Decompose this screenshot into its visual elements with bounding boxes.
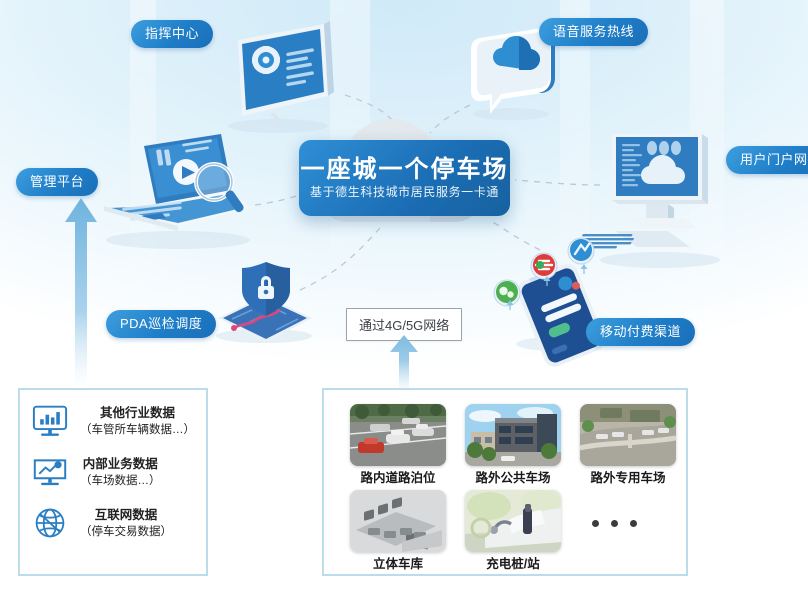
pill-pda-dispatch[interactable]: PDA巡检调度: [106, 310, 216, 338]
pill-voice-hotline[interactable]: 语音服务热线: [539, 18, 648, 46]
dot: [592, 520, 599, 527]
pill-user-portal[interactable]: 用户门户网站: [726, 146, 808, 174]
data-source-sub: （车管所车辆数据…）: [80, 422, 195, 439]
parking-type-label: 立体车库: [350, 558, 446, 571]
data-source-sub: （车场数据…）: [80, 473, 161, 490]
parking-type-item[interactable]: 立体车库: [350, 490, 446, 571]
parking-type-label: 路外公共车场: [465, 472, 561, 485]
dot: [611, 520, 618, 527]
shield-lock-map-icon: [206, 256, 326, 352]
public-parking-building-photo: [465, 404, 561, 466]
page-subtitle: 基于德生科技城市居民服务一卡通: [310, 186, 499, 198]
dedicated-parking-lot-photo: [580, 404, 676, 466]
pill-mobile-payment[interactable]: 移动付费渠道: [586, 318, 695, 346]
data-source-title: 内部业务数据: [83, 455, 158, 473]
data-source-item[interactable]: 互联网数据 （停车交易数据）: [30, 506, 196, 541]
parking-type-label: 路外专用车场: [580, 472, 676, 485]
data-sources-panel: 其他行业数据 （车管所车辆数据…） 内部业务数据 （车场数据…）: [18, 388, 208, 576]
data-source-item[interactable]: 其他行业数据 （车管所车辆数据…）: [30, 404, 196, 439]
parking-type-label: 充电桩/站: [465, 558, 561, 571]
line-chart-monitor-icon: [30, 455, 70, 489]
parking-type-label: 路内道路泊位: [350, 472, 446, 485]
chart-monitor-icon: [30, 404, 70, 438]
parking-type-item[interactable]: 路外专用车场: [580, 404, 676, 485]
diagram-canvas: 一座城一个停车场 基于德生科技城市居民服务一卡通: [0, 0, 808, 590]
data-source-item[interactable]: 内部业务数据 （车场数据…）: [30, 455, 196, 490]
street-parking-photo: [350, 404, 446, 466]
globe-network-icon: [30, 506, 70, 540]
laptop-magnifier-icon: [86, 128, 266, 254]
data-source-title: 其他行业数据: [100, 404, 175, 422]
multi-level-garage-photo: [350, 490, 446, 552]
more-indicator: [592, 520, 637, 527]
dot: [630, 520, 637, 527]
data-flow-arrow-up: [62, 196, 100, 386]
page-title: 一座城一个停车场: [301, 158, 509, 182]
parking-type-item[interactable]: 充电桩/站: [465, 490, 561, 571]
center-badge: 一座城一个停车场 基于德生科技城市居民服务一卡通: [299, 140, 510, 216]
pill-command-center[interactable]: 指挥中心: [131, 20, 213, 48]
parking-type-item[interactable]: 路内道路泊位: [350, 404, 446, 485]
data-source-title: 互联网数据: [95, 506, 158, 524]
parking-types-panel: 路内道路泊位: [322, 388, 688, 576]
ev-charging-photo: [465, 490, 561, 552]
network-arrow-up: [386, 334, 422, 392]
parking-type-item[interactable]: 路外公共车场: [465, 404, 561, 485]
data-source-sub: （停车交易数据）: [80, 524, 172, 541]
pill-management-platform[interactable]: 管理平台: [16, 168, 98, 196]
